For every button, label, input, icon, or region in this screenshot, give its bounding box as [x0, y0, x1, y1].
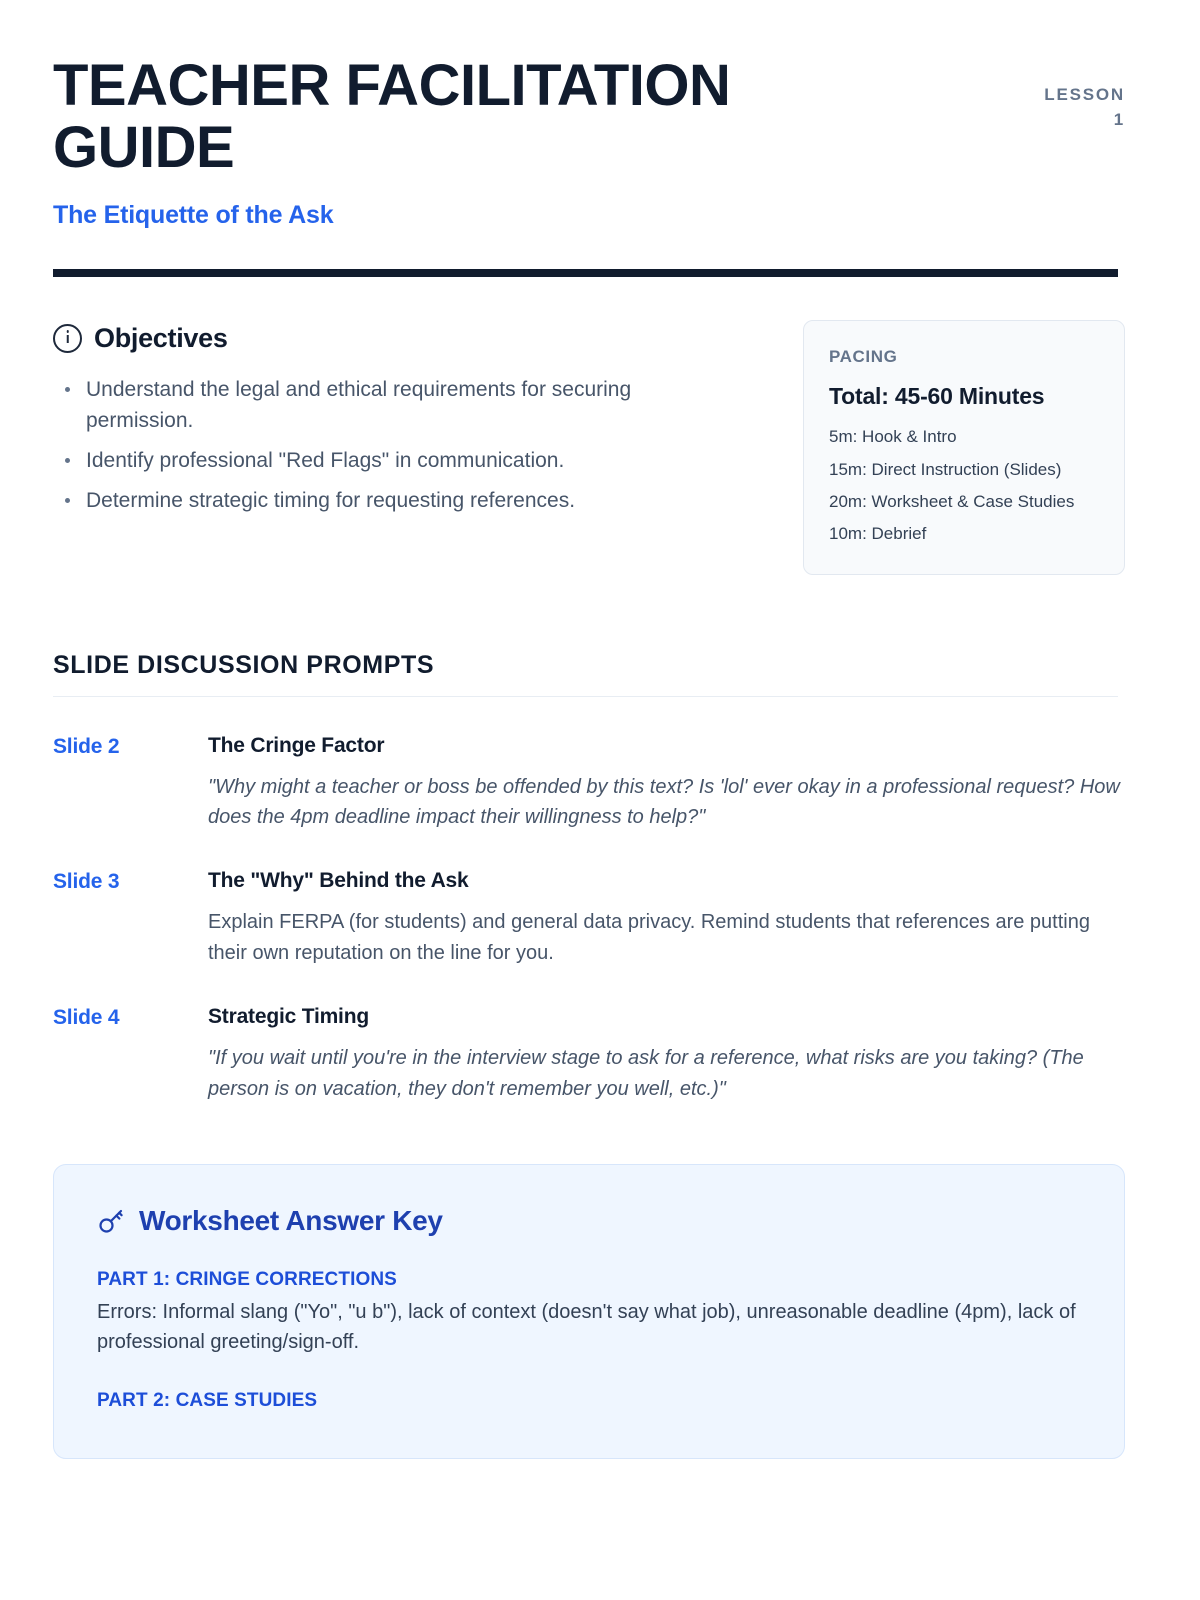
pacing-item: 20m: Worksheet & Case Studies [829, 490, 1099, 513]
answer-key-header: Worksheet Answer Key [97, 1205, 1081, 1237]
prompt-slide-number: Slide 2 [53, 734, 208, 759]
header-divider [53, 269, 1118, 277]
prompt-text: "Why might a teacher or boss be offended… [208, 772, 1125, 833]
answer-key-part-label: PART 2: CASE STUDIES [97, 1390, 1081, 1412]
prompt-slide-number: Slide 4 [53, 1005, 208, 1030]
answer-key-part: PART 2: CASE STUDIES [97, 1390, 1081, 1412]
objectives-heading: Objectives [94, 323, 228, 354]
list-item: Understand the legal and ethical require… [53, 374, 736, 436]
header-title-group: Teacher Facilitation Guide The Etiquette… [53, 55, 883, 230]
section-title: SLIDE DISCUSSION PROMPTS [53, 651, 1125, 680]
prompt-slide-number: Slide 3 [53, 869, 208, 894]
objectives-pacing-row: Objectives Understand the legal and ethi… [53, 323, 1125, 574]
prompt-body: The "Why" Behind the Ask Explain FERPA (… [208, 869, 1125, 968]
list-item: Identify professional "Red Flags" in com… [53, 445, 736, 476]
lesson-badge: LESSON 1 [1005, 55, 1125, 132]
prompt-row: Slide 4 Strategic Timing "If you wait un… [53, 1005, 1125, 1104]
prompt-body: The Cringe Factor "Why might a teacher o… [208, 734, 1125, 833]
slide-prompts-section: SLIDE DISCUSSION PROMPTS Slide 2 The Cri… [53, 651, 1125, 1104]
list-item: Determine strategic timing for requestin… [53, 485, 736, 516]
prompt-row: Slide 2 The Cringe Factor "Why might a t… [53, 734, 1125, 833]
section-divider [53, 696, 1118, 697]
facilitation-guide-page: Teacher Facilitation Guide The Etiquette… [0, 0, 1200, 1600]
pacing-item: 15m: Direct Instruction (Slides) [829, 458, 1099, 481]
lesson-label: LESSON [1005, 83, 1125, 108]
pacing-item: 5m: Hook & Intro [829, 425, 1099, 448]
prompt-row: Slide 3 The "Why" Behind the Ask Explain… [53, 869, 1125, 968]
prompt-text: Explain FERPA (for students) and general… [208, 907, 1125, 968]
prompt-title: Strategic Timing [208, 1005, 1125, 1029]
answer-key-part-text: Errors: Informal slang ("Yo", "u b"), la… [97, 1297, 1081, 1357]
pacing-total: Total: 45-60 Minutes [829, 381, 1099, 411]
objectives-list: Understand the legal and ethical require… [53, 374, 763, 516]
pacing-card: PACING Total: 45-60 Minutes 5m: Hook & I… [803, 320, 1125, 574]
prompt-title: The Cringe Factor [208, 734, 1125, 758]
page-header: Teacher Facilitation Guide The Etiquette… [53, 55, 1125, 230]
prompt-text: "If you wait until you're in the intervi… [208, 1043, 1125, 1104]
key-icon [97, 1207, 125, 1235]
page-title: Teacher Facilitation Guide [53, 55, 883, 179]
answer-key-part: PART 1: CRINGE CORRECTIONS Errors: Infor… [97, 1269, 1081, 1357]
answer-key-title: Worksheet Answer Key [139, 1205, 443, 1237]
prompt-body: Strategic Timing "If you wait until you'… [208, 1005, 1125, 1104]
objectives-header: Objectives [53, 323, 763, 354]
prompt-title: The "Why" Behind the Ask [208, 869, 1125, 893]
objectives-section: Objectives Understand the legal and ethi… [53, 323, 803, 525]
page-subtitle: The Etiquette of the Ask [53, 201, 883, 230]
lesson-number: 1 [1005, 108, 1125, 133]
info-icon [53, 324, 82, 353]
answer-key-part-label: PART 1: CRINGE CORRECTIONS [97, 1269, 1081, 1291]
worksheet-answer-key-panel: Worksheet Answer Key PART 1: CRINGE CORR… [53, 1164, 1125, 1459]
pacing-label: PACING [829, 347, 1099, 367]
pacing-item: 10m: Debrief [829, 522, 1099, 545]
